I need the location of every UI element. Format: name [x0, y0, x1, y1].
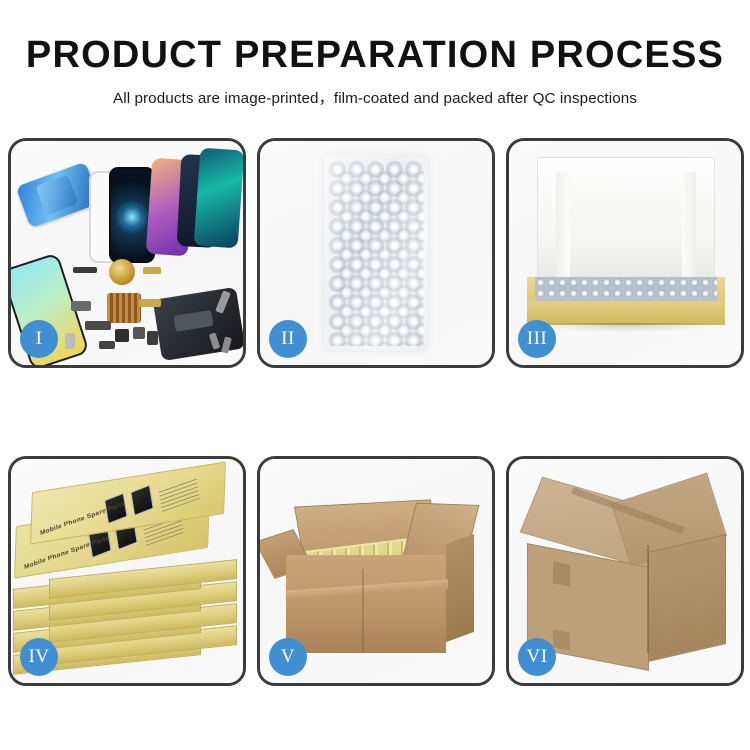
chip-grid-icon — [107, 293, 141, 323]
step-panel-5: V — [257, 456, 495, 686]
phone-back-housing-icon — [153, 287, 246, 361]
yellow-box-front-face — [527, 301, 725, 325]
box-text-lines — [158, 476, 199, 512]
step-badge-3: III — [518, 320, 556, 358]
step-badge-1: I — [20, 320, 58, 358]
step-badge-2: II — [269, 320, 307, 358]
header: PRODUCT PREPARATION PROCESS All products… — [0, 0, 750, 108]
carton-side-face — [648, 534, 726, 662]
white-box-lid-icon — [537, 157, 715, 281]
lid-left-crease — [556, 172, 570, 280]
step-badge-6: VI — [518, 638, 556, 676]
spare-part-icon — [143, 267, 161, 274]
carton-side-face — [446, 534, 474, 642]
carton-tab-upper — [553, 561, 570, 586]
step-panel-4: Mobile Phone Spare Parts Mobile Phone Sp… — [8, 456, 246, 686]
bubble-wrap-icon — [324, 155, 428, 351]
spare-part-icon — [147, 331, 158, 345]
box-shadow — [535, 323, 717, 333]
spare-part-icon — [73, 267, 97, 273]
carton-seam — [362, 569, 364, 653]
spare-part-icon — [133, 327, 145, 339]
spare-part-icon — [71, 301, 91, 311]
page-subtitle: All products are image-printed，film-coat… — [0, 86, 750, 108]
carton-tab-lower — [553, 629, 570, 650]
spare-part-icon — [115, 329, 129, 342]
page-title: PRODUCT PREPARATION PROCESS — [0, 34, 750, 77]
carton-front-face — [286, 555, 446, 653]
spare-part-icon — [85, 321, 111, 330]
product-preparation-infographic: PRODUCT PREPARATION PROCESS All products… — [0, 0, 750, 750]
phone-lcd-blue-icon — [16, 162, 101, 229]
spare-part-icon — [139, 299, 161, 307]
plastic-glare — [324, 155, 428, 351]
step-panel-2: II — [257, 138, 495, 368]
step-panel-6: VI — [506, 456, 744, 686]
spare-part-icon — [99, 341, 115, 349]
step-panel-1: I — [8, 138, 246, 368]
step-panel-3: III — [506, 138, 744, 368]
bubble-wrap-fill-icon — [535, 277, 717, 303]
phone-teal-icon — [194, 148, 245, 249]
spare-part-icon — [65, 333, 75, 349]
step-badge-5: V — [269, 638, 307, 676]
speaker-coil-icon — [109, 259, 135, 285]
lid-right-crease — [682, 172, 696, 280]
step-badge-4: IV — [20, 638, 58, 676]
carton-vertical-edge — [647, 545, 649, 653]
steps-grid: I II III — [8, 138, 742, 680]
box-screen-image — [130, 485, 154, 517]
